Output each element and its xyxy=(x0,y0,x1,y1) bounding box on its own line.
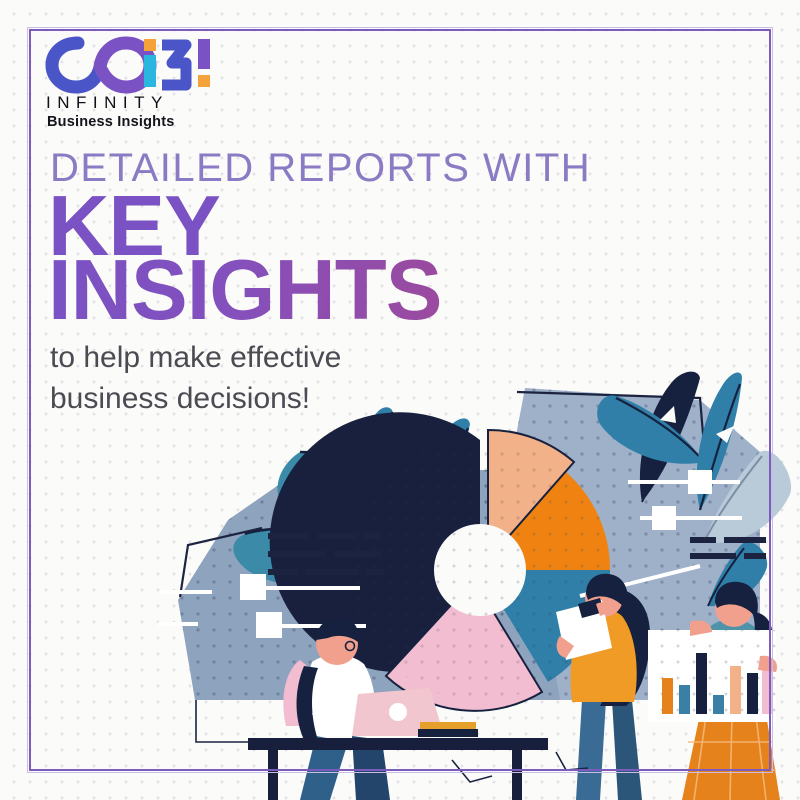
infinity-i3-logo-icon xyxy=(44,33,224,95)
brand-name: INFINITY xyxy=(44,93,234,113)
headline-line-2: INSIGHTS xyxy=(48,250,441,332)
poster-canvas: INFINITY Business Insights DETAILED REPO… xyxy=(0,0,800,800)
brand-tagline: Business Insights xyxy=(44,114,234,130)
brand-logo[interactable]: INFINITY Business Insights xyxy=(44,33,234,130)
headline-subtitle: to help make effective business decision… xyxy=(50,338,341,420)
